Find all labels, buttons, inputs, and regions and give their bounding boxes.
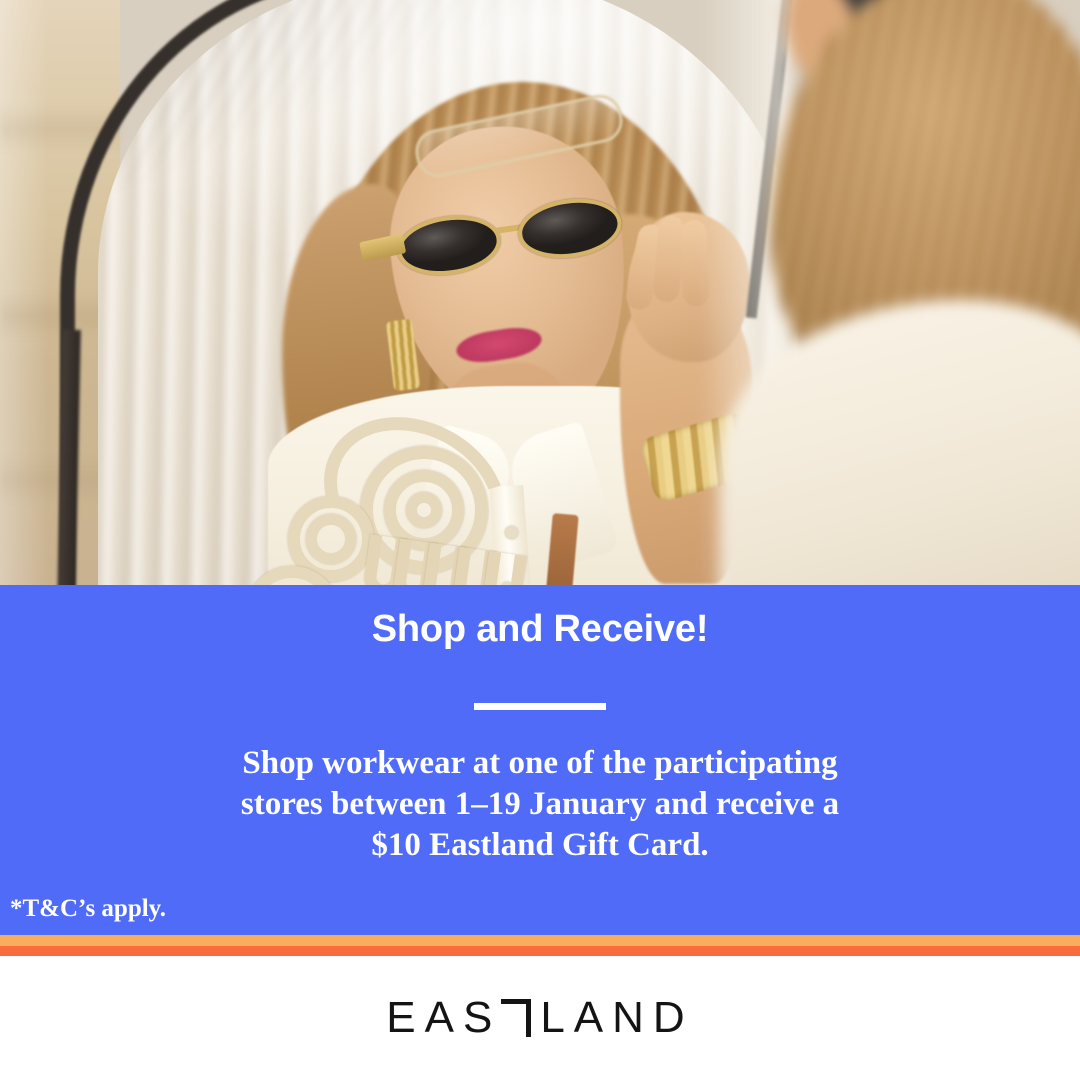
divider-rule	[474, 703, 606, 710]
accent-bar-light-orange	[0, 935, 1080, 946]
offer-panel: Shop and Receive! Shop workwear at one o…	[0, 585, 1080, 935]
eastland-logo: EAS LAND	[386, 993, 693, 1043]
promo-body-copy: Shop workwear at one of the participatin…	[0, 743, 1080, 866]
logo-text-before-t: EAS	[386, 993, 501, 1043]
embroidery-scallop	[481, 551, 527, 585]
foreground-figure	[700, 0, 1080, 585]
hero-photo	[0, 0, 1080, 585]
promo-headline: Shop and Receive!	[0, 608, 1080, 651]
accent-bar-dark-orange	[0, 946, 1080, 956]
promo-body-line: stores between 1–19 January and receive …	[0, 784, 1080, 825]
logo-text-after-t: LAND	[540, 993, 693, 1043]
promo-body-line: $10 Eastland Gift Card.	[0, 825, 1080, 866]
promo-advertisement: Shop and Receive! Shop workwear at one o…	[0, 0, 1080, 1080]
footer: EAS LAND	[0, 956, 1080, 1080]
promo-body-line: Shop workwear at one of the participatin…	[0, 743, 1080, 784]
logo-mirrored-t-glyph	[501, 999, 531, 1037]
terms-fineprint: *T&C’s apply.	[10, 895, 166, 923]
